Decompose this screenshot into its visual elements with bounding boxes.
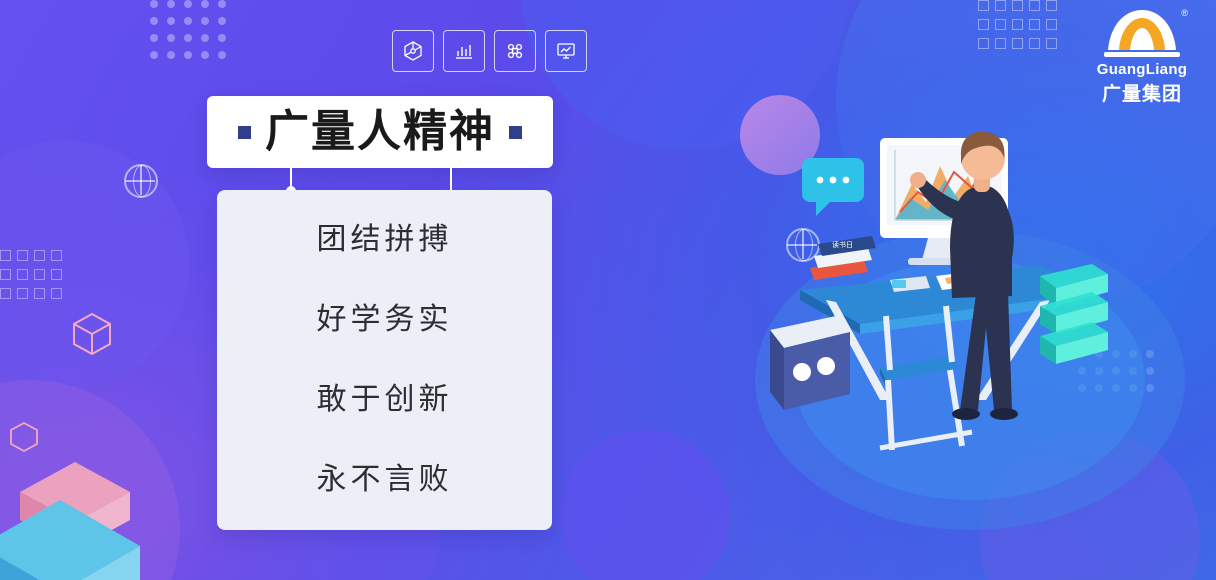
logo-brand-en: GuangLiang — [1086, 61, 1198, 78]
decor-blob — [560, 430, 730, 580]
value-line: 好学务实 — [317, 280, 453, 360]
poster-canvas: 广量人精神 团结拼搏 好学务实 敢于创新 永不言败 ® GuangLiang 广… — [0, 0, 1216, 580]
title-bullet-right — [509, 126, 522, 139]
trademark-symbol: ® — [1181, 8, 1188, 18]
square-grid-icon — [0, 250, 60, 299]
title-connector — [290, 168, 452, 190]
globe-icon — [124, 164, 158, 198]
logo-mark-icon: ® — [1098, 6, 1186, 60]
values-panel: 团结拼搏 好学务实 敢于创新 永不言败 — [217, 190, 552, 530]
value-line: 团结拼搏 — [317, 200, 453, 280]
value-line: 永不言败 — [317, 440, 453, 520]
page-title: 广量人精神 — [265, 110, 495, 154]
dot-grid-icon — [150, 0, 226, 59]
square-grid-icon — [978, 0, 1055, 49]
title-bullet-left — [238, 126, 251, 139]
cube-outline-icon — [8, 420, 40, 454]
command-icon — [494, 30, 536, 72]
monitor-chart-icon — [545, 30, 587, 72]
cube-outline-icon — [70, 310, 114, 358]
illustration-businessman-presenting: 读书日 — [740, 80, 1200, 530]
header-icon-row — [392, 30, 587, 72]
bar-chart-icon — [443, 30, 485, 72]
svg-text:读书日: 读书日 — [832, 240, 853, 249]
network-node-icon — [392, 30, 434, 72]
title-card: 广量人精神 — [207, 96, 553, 168]
value-line: 敢于创新 — [317, 360, 453, 440]
